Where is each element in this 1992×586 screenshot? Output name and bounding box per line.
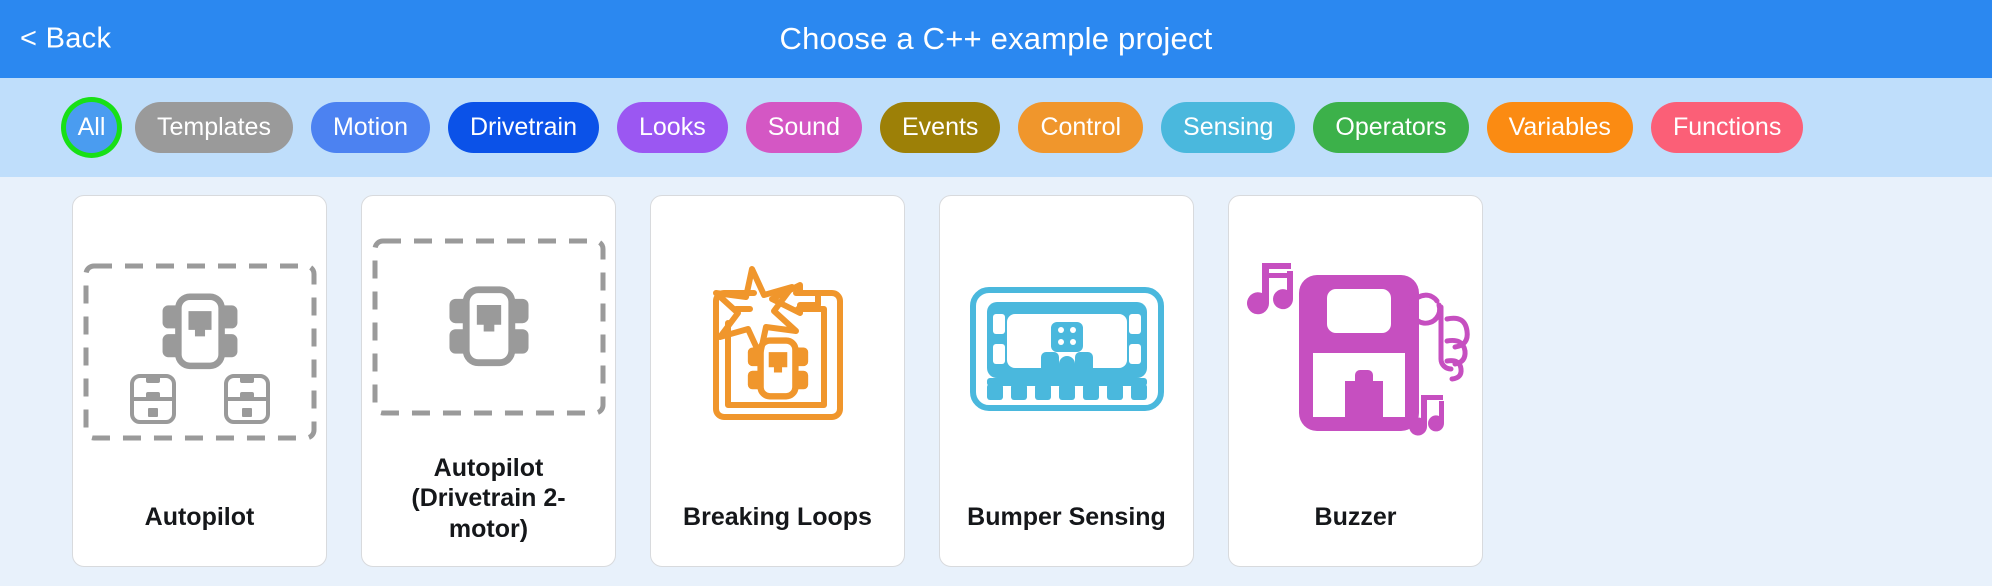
example-project-card[interactable]: Autopilot xyxy=(72,195,327,567)
category-pill-motion[interactable]: Motion xyxy=(311,102,430,153)
robot-with-wheels-dashed-icon xyxy=(82,262,318,442)
buzzer-music-icon xyxy=(1241,257,1471,447)
example-project-card[interactable]: Buzzer xyxy=(1228,195,1483,567)
category-pill-looks[interactable]: Looks xyxy=(617,102,728,153)
robot-with-wheels-dashed-icon xyxy=(73,196,326,502)
loop-break-robot-icon xyxy=(678,257,878,447)
category-filter-bar: AllTemplatesMotionDrivetrainLooksSoundEv… xyxy=(0,78,1992,177)
category-pill-variables[interactable]: Variables xyxy=(1487,102,1633,153)
category-pill-sensing[interactable]: Sensing xyxy=(1161,102,1295,153)
category-pill-drivetrain[interactable]: Drivetrain xyxy=(448,102,599,153)
example-project-card[interactable]: Bumper Sensing xyxy=(939,195,1194,567)
bumper-sensor-icon xyxy=(940,196,1193,502)
card-label: Bumper Sensing xyxy=(940,502,1193,567)
category-pill-operators[interactable]: Operators xyxy=(1313,102,1468,153)
example-project-card[interactable]: Breaking Loops xyxy=(650,195,905,567)
card-label: Buzzer xyxy=(1229,502,1482,567)
category-pill-templates[interactable]: Templates xyxy=(135,102,293,153)
example-project-grid: Autopilot Autopilot (Drivetrain 2-motor) xyxy=(0,177,1992,586)
robot-dashed-icon xyxy=(362,196,615,453)
back-button[interactable]: < Back xyxy=(20,23,111,56)
category-pill-functions[interactable]: Functions xyxy=(1651,102,1803,153)
robot-dashed-icon xyxy=(371,237,607,417)
card-label: Autopilot (Drivetrain 2-motor) xyxy=(362,453,615,567)
card-label: Autopilot xyxy=(73,502,326,567)
app-header: < Back Choose a C++ example project xyxy=(0,0,1992,78)
category-pill-events[interactable]: Events xyxy=(880,102,1000,153)
bumper-sensor-icon xyxy=(967,272,1167,432)
loop-break-robot-icon xyxy=(651,196,904,502)
category-pill-all[interactable]: All xyxy=(66,102,117,153)
category-pill-sound[interactable]: Sound xyxy=(746,102,862,153)
card-label: Breaking Loops xyxy=(651,502,904,567)
example-project-card[interactable]: Autopilot (Drivetrain 2-motor) xyxy=(361,195,616,567)
page-title: Choose a C++ example project xyxy=(0,21,1992,57)
buzzer-music-icon xyxy=(1229,196,1482,502)
category-pill-control[interactable]: Control xyxy=(1018,102,1143,153)
